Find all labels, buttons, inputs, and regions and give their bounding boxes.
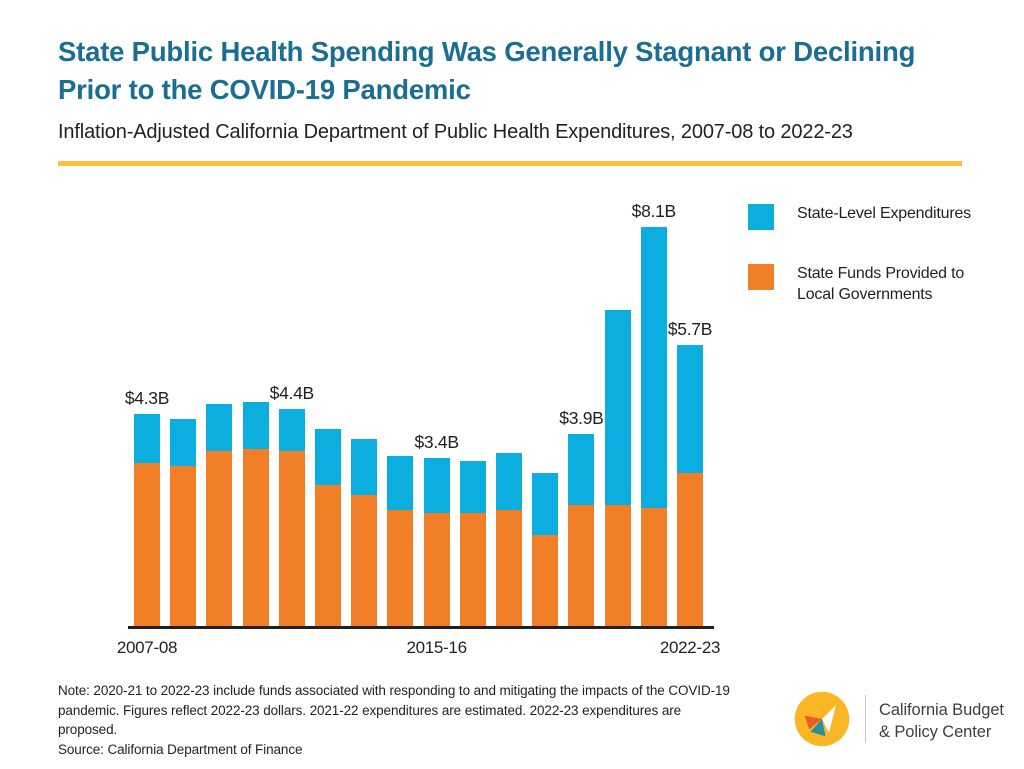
- bar-segment-state-level: [460, 461, 486, 513]
- bar-group: [568, 434, 594, 626]
- bar-value-label: $5.7B: [650, 319, 730, 340]
- bar-group: [243, 402, 269, 626]
- x-axis-line: [128, 626, 714, 629]
- bar-segment-local-funds: [424, 513, 450, 626]
- bar-segment-state-level: [279, 409, 305, 451]
- bar-group: [677, 345, 703, 626]
- bar-segment-local-funds: [170, 466, 196, 626]
- bar-segment-local-funds: [677, 473, 703, 626]
- bar-segment-state-level: [315, 429, 341, 486]
- bar-group: [605, 310, 631, 626]
- bar-segment-local-funds: [460, 513, 486, 626]
- bar-group: [206, 404, 232, 626]
- logo-wordmark: California Budget & Policy Center: [879, 700, 1004, 744]
- bar-segment-state-level: [532, 473, 558, 535]
- bar-chart-plot: $4.3B$4.4B$3.4B$3.9B$8.1B$5.7B 2007-0820…: [0, 0, 1024, 769]
- footnote-note: Note: 2020-21 to 2022-23 include funds a…: [58, 683, 730, 737]
- logo-name-line-2: & Policy Center: [879, 722, 1004, 744]
- bar-group: [279, 409, 305, 626]
- bar-segment-local-funds: [605, 505, 631, 626]
- bar-value-label: $4.4B: [252, 383, 332, 404]
- bar-group: [532, 473, 558, 626]
- x-axis-tick-label: 2015-16: [397, 638, 477, 658]
- bar-segment-local-funds: [641, 508, 667, 626]
- bar-value-label: $3.9B: [541, 408, 621, 429]
- organization-logo: California Budget & Policy Center: [793, 690, 1008, 752]
- bar-segment-state-level: [424, 458, 450, 512]
- bar-segment-state-level: [243, 402, 269, 449]
- bar-segment-state-level: [677, 345, 703, 473]
- x-axis-tick-label: 2007-08: [107, 638, 187, 658]
- footnote: Note: 2020-21 to 2022-23 include funds a…: [58, 681, 738, 760]
- bar-group: [641, 227, 667, 626]
- bar-value-label: $4.3B: [107, 388, 187, 409]
- bar-group: [387, 456, 413, 626]
- bar-segment-state-level: [496, 453, 522, 510]
- legend-color-swatch: [748, 264, 774, 290]
- x-axis-tick-label: 2022-23: [650, 638, 730, 658]
- bar-group: [134, 414, 160, 626]
- logo-divider: [865, 695, 866, 743]
- bar-segment-state-level: [206, 404, 232, 451]
- bar-group: [496, 453, 522, 626]
- legend-item-label: State-Level Expenditures: [797, 203, 1002, 224]
- bar-segment-local-funds: [496, 510, 522, 626]
- bar-segment-local-funds: [134, 463, 160, 626]
- bar-segment-local-funds: [387, 510, 413, 626]
- cbpc-logo-icon: [793, 690, 851, 748]
- footnote-source: Source: California Department of Finance: [58, 740, 738, 760]
- logo-name-line-1: California Budget: [879, 700, 1004, 722]
- legend-color-swatch: [748, 204, 774, 230]
- bar-segment-local-funds: [315, 485, 341, 626]
- legend-item-label: State Funds Provided to Local Government…: [797, 263, 1002, 306]
- bar-group: [170, 419, 196, 626]
- bar-segment-local-funds: [243, 449, 269, 626]
- bar-segment-local-funds: [351, 495, 377, 626]
- bar-group: [424, 458, 450, 626]
- bar-segment-local-funds: [206, 451, 232, 626]
- bar-segment-state-level: [387, 456, 413, 510]
- bar-segment-local-funds: [279, 451, 305, 626]
- bar-segment-state-level: [170, 419, 196, 466]
- bar-group: [351, 439, 377, 626]
- bar-segment-state-level: [351, 439, 377, 496]
- bar-value-label: $8.1B: [614, 201, 694, 222]
- bar-segment-local-funds: [532, 535, 558, 626]
- bar-value-label: $3.4B: [397, 432, 477, 453]
- bar-group: [460, 461, 486, 626]
- bar-segment-state-level: [641, 227, 667, 508]
- bar-segment-state-level: [568, 434, 594, 505]
- bar-segment-local-funds: [568, 505, 594, 626]
- bar-group: [315, 429, 341, 626]
- bar-segment-state-level: [134, 414, 160, 463]
